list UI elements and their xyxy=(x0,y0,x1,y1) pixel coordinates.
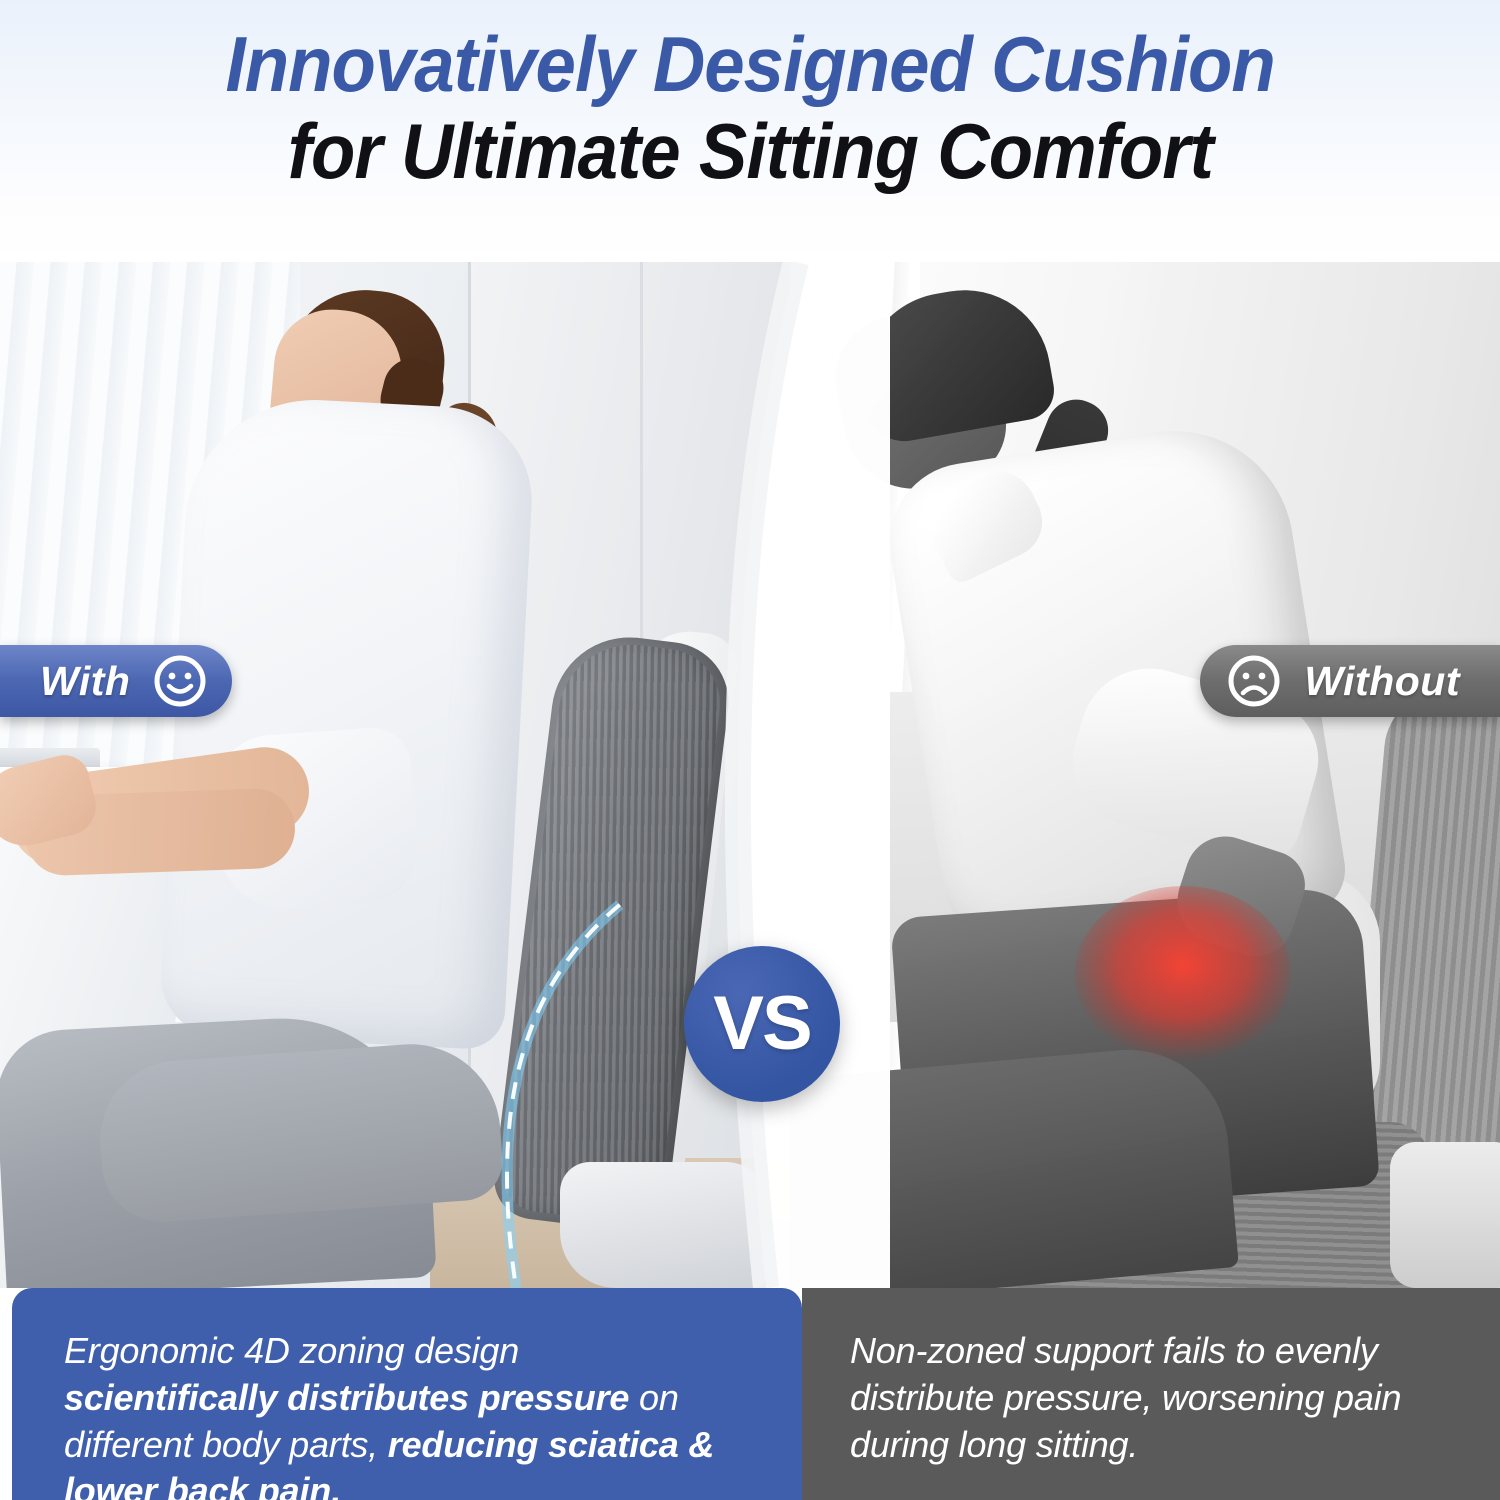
badge-without[interactable]: Without xyxy=(1200,645,1500,717)
headline-line-2: for Ultimate Sitting Comfort xyxy=(287,110,1212,193)
product-comparison-image: Innovatively Designed Cushion for Ultima… xyxy=(0,0,1500,1500)
right-chair-armrest xyxy=(1390,1142,1500,1288)
left-model-thigh xyxy=(95,1038,505,1226)
caption-text-with: Ergonomic 4D zoning design scientificall… xyxy=(64,1328,742,1500)
headline-banner: Innovatively Designed Cushion for Ultima… xyxy=(0,0,1500,262)
photo-with-cushion xyxy=(0,262,790,1288)
badge-with[interactable]: With xyxy=(0,645,232,717)
caption-panel-without: Non-zoned support fails to evenly distri… xyxy=(802,1288,1500,1500)
badge-with-label: With xyxy=(40,658,130,705)
panel-divider-curve xyxy=(700,262,890,1288)
lower-back-pain-highlight xyxy=(1055,874,1315,1094)
headline-line-1: Innovatively Designed Cushion xyxy=(225,24,1274,104)
badge-without-label: Without xyxy=(1304,658,1460,705)
smiley-face-icon xyxy=(152,653,208,709)
vs-badge: VS xyxy=(684,946,840,1102)
vs-label: VS xyxy=(713,986,810,1062)
sad-face-icon xyxy=(1226,653,1282,709)
caption-panel-with: Ergonomic 4D zoning design scientificall… xyxy=(12,1288,802,1500)
comparison-photo-stage: With Without VS Zikee xyxy=(0,262,1500,1288)
caption-text-without: Non-zoned support fails to evenly distri… xyxy=(850,1328,1460,1468)
photo-without-cushion xyxy=(790,262,1500,1288)
